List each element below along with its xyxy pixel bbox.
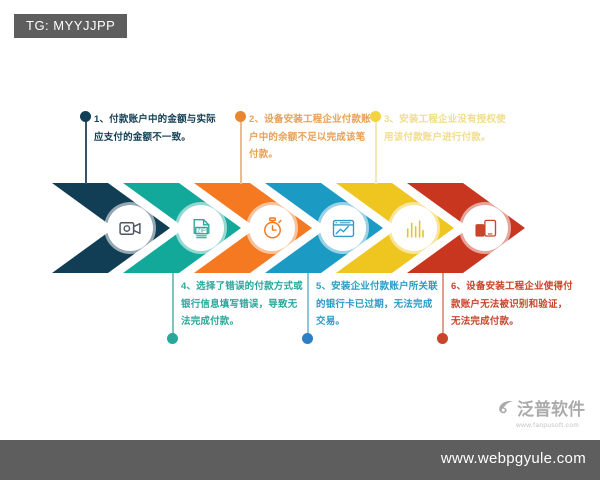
- zip-file-icon: ZIP: [189, 216, 214, 241]
- connector-stem-step-1: [85, 118, 87, 184]
- video-camera-icon: [118, 216, 143, 241]
- devices-icon: [473, 216, 498, 241]
- bottom-watermark-bar: www.webpgyule.com: [0, 440, 600, 480]
- connector-stem-step-4: [172, 273, 174, 335]
- fanpu-logo: 泛普软件 www.fanpusoft.com: [498, 399, 594, 437]
- bottom-watermark-url: www.webpgyule.com: [441, 451, 586, 466]
- connector-stem-step-2: [240, 118, 242, 184]
- connector-dot-step-5: [302, 333, 313, 344]
- connector-stem-step-3: [375, 118, 377, 184]
- icon-bubble-step-6: [462, 205, 508, 251]
- step-text-1: 1、付款账户中的金额与实际应支付的金额不一致。: [94, 111, 218, 146]
- connector-dot-step-2: [235, 111, 246, 122]
- svg-text:ZIP: ZIP: [197, 228, 206, 234]
- infographic-stage: ZIP: [0, 0, 600, 440]
- logo-name-cn: 泛普软件: [517, 401, 585, 418]
- connector-dot-step-4: [167, 333, 178, 344]
- step-text-4: 4、选择了错误的付款方式或银行信息填写错误，导致无法完成付款。: [181, 278, 305, 331]
- step-text-3: 3、安装工程企业没有授权使用该付款账户进行付款。: [384, 111, 508, 146]
- chart-window-icon: [331, 216, 356, 241]
- connector-stem-step-6: [442, 273, 444, 335]
- icon-bubble-step-4: [320, 205, 366, 251]
- icon-bubble-step-5: [391, 205, 437, 251]
- bar-chart-icon: [402, 216, 427, 241]
- chevron-arrow-band: ZIP: [52, 183, 552, 273]
- connector-dot-step-6: [437, 333, 448, 344]
- icon-bubble-step-2: ZIP: [178, 205, 224, 251]
- connector-stem-step-5: [307, 273, 309, 335]
- swirl-leaf-icon: [498, 399, 514, 420]
- icon-bubble-step-3: [249, 205, 295, 251]
- step-text-6: 6、设备安装工程企业使得付款账户无法被识别和验证，无法完成付款。: [451, 278, 575, 331]
- icon-bubble-step-1: [107, 205, 153, 251]
- step-text-2: 2、设备安装工程企业付款账户中的余额不足以完成该笔付款。: [249, 111, 373, 164]
- stopwatch-icon: [260, 216, 285, 241]
- tg-watermark-tag: TG: MYYJJPP: [14, 14, 127, 38]
- step-text-5: 5、安装企业付款账户所关联的银行卡已过期，无法完成交易。: [316, 278, 440, 331]
- logo-url: www.fanpusoft.com: [516, 423, 594, 430]
- connector-dot-step-1: [80, 111, 91, 122]
